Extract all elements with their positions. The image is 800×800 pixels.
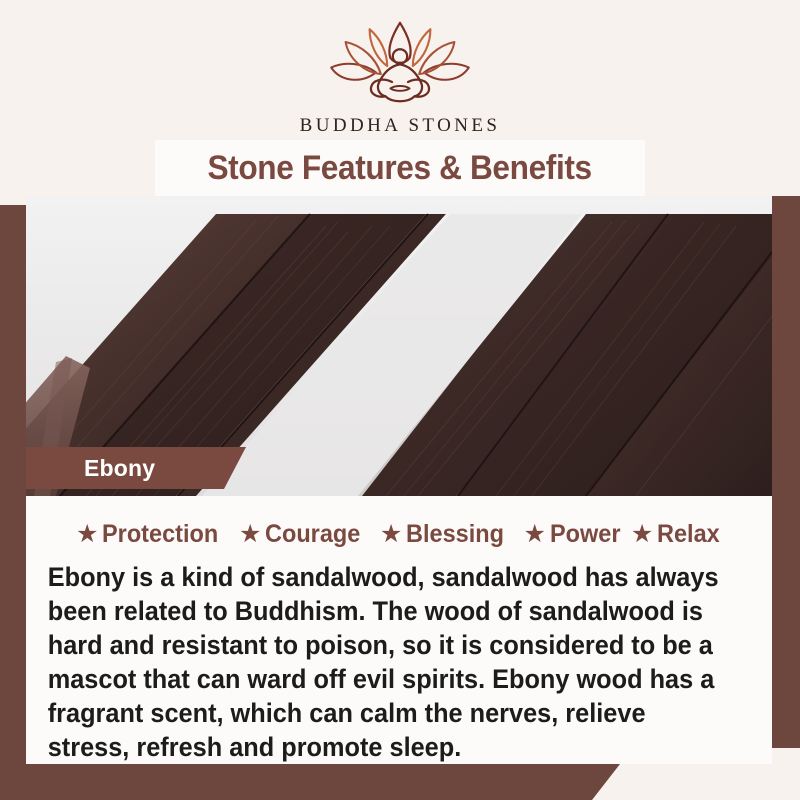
brand-name: BUDDHA STONES (300, 115, 501, 137)
content-panel: ★ Protection ★ Courage ★ Blessing ★ Powe… (26, 496, 772, 764)
benefits-list: ★ Protection ★ Courage ★ Blessing ★ Powe… (42, 520, 758, 549)
lotus-meditation-icon (320, 18, 480, 110)
benefit-item: ★ Power (523, 520, 624, 549)
benefit-label: Power (550, 520, 621, 549)
description-text: Ebony is a kind of sandalwood, sandalwoo… (42, 560, 726, 764)
benefit-item: ★ Blessing (380, 520, 511, 549)
star-icon: ★ (239, 522, 261, 547)
benefit-label: Blessing (406, 520, 504, 549)
product-tag-label: Ebony (84, 455, 155, 482)
frame-band-left (0, 205, 26, 767)
infographic-page: BUDDHA STONES Stone Features & Benefits (0, 0, 800, 800)
star-icon: ★ (76, 522, 98, 547)
product-tag: Ebony (26, 447, 246, 489)
benefit-item: ★ Relax (631, 520, 724, 549)
benefit-item: ★ Protection (76, 520, 226, 549)
benefit-item: ★ Courage (239, 520, 367, 549)
title-strip: Stone Features & Benefits (155, 140, 645, 196)
page-title: Stone Features & Benefits (208, 149, 592, 188)
frame-band-bottom (0, 764, 620, 800)
benefit-label: Courage (265, 520, 360, 549)
benefit-label: Relax (657, 520, 720, 549)
benefit-label: Protection (102, 520, 218, 549)
brand-logo-block: BUDDHA STONES (0, 18, 800, 137)
star-icon: ★ (523, 522, 545, 547)
star-icon: ★ (631, 522, 653, 547)
header: BUDDHA STONES Stone Features & Benefits (0, 0, 800, 196)
star-icon: ★ (380, 522, 402, 547)
